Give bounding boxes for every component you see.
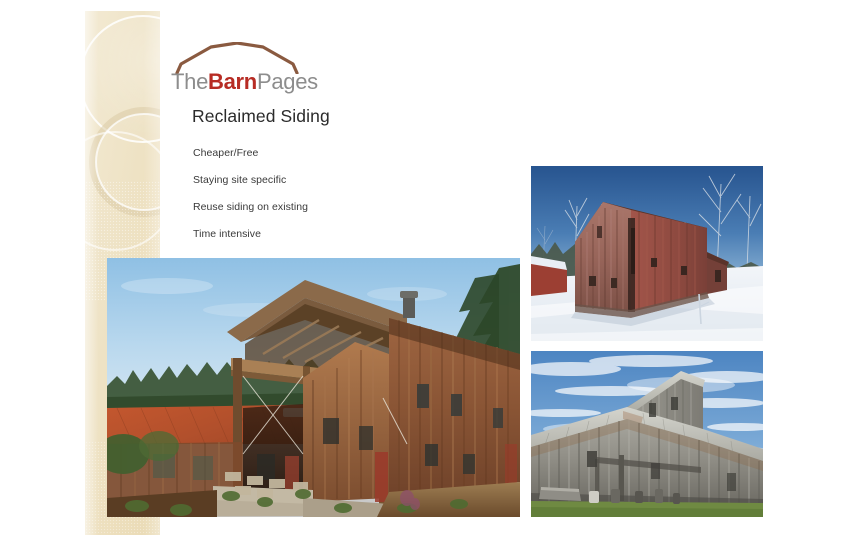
list-item: Time intensive	[193, 227, 513, 241]
logo-wordmark: TheBarnPages	[171, 69, 318, 95]
thebarnpages-logo[interactable]: TheBarnPages	[171, 42, 303, 92]
list-item: Cheaper/Free	[193, 146, 513, 160]
list-item: Staying site specific	[193, 173, 513, 187]
list-item: Reuse siding on existing	[193, 200, 513, 214]
photo-gray-weathered-barn	[531, 351, 763, 517]
logo-word-the: The	[171, 69, 208, 94]
logo-word-pages: Pages	[257, 69, 318, 94]
photo-red-barn-in-snow	[531, 166, 763, 341]
page-title: Reclaimed Siding	[192, 106, 330, 127]
photo-reclaimed-siding-house	[107, 258, 520, 517]
slide-canvas: TheBarnPages Reclaimed Siding Cheaper/Fr…	[0, 0, 848, 548]
bullet-list: Cheaper/Free Staying site specific Reuse…	[193, 146, 513, 254]
logo-word-barn: Barn	[208, 69, 257, 94]
